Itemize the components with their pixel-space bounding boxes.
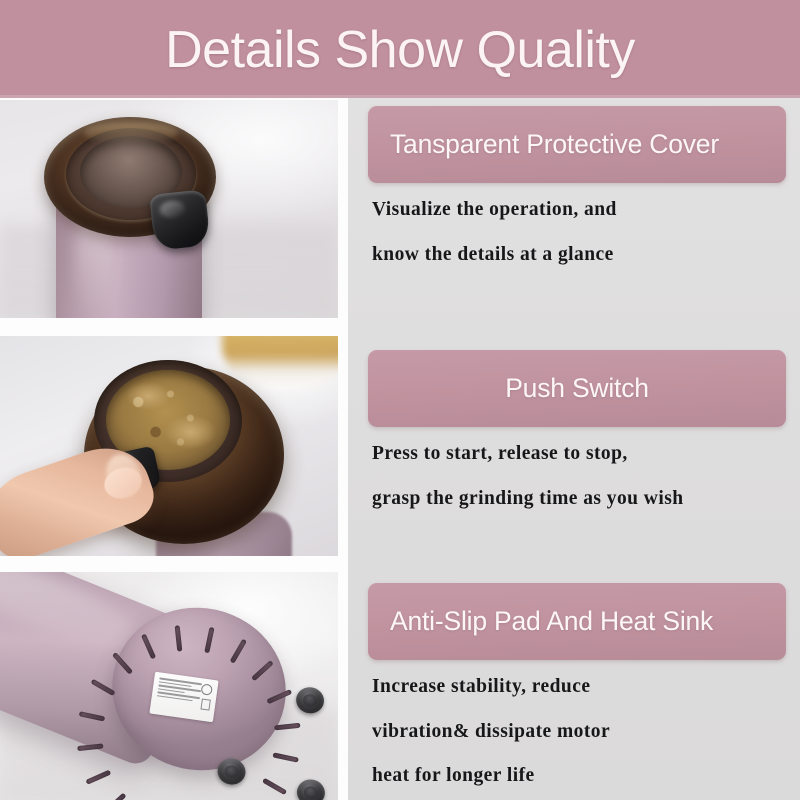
certification-icon <box>201 683 213 695</box>
feature-description: Press to start, release to stop, grasp t… <box>368 444 786 508</box>
feature-title: Anti-Slip Pad And Heat Sink <box>390 608 713 635</box>
vent-slot <box>230 639 247 664</box>
spec-label <box>149 672 218 722</box>
feature-label-bar: Anti-Slip Pad And Heat Sink <box>368 583 786 660</box>
vent-slot <box>112 652 133 675</box>
description-line: vibration& dissipate motor <box>372 722 786 742</box>
product-infographic: Details Show Quality <box>0 0 800 800</box>
photo-transparent-lid-top-view <box>0 100 338 318</box>
description-line: heat for longer life <box>372 766 786 786</box>
feature-description: Visualize the operation, and know the de… <box>368 200 786 264</box>
photo-1-content <box>0 100 338 318</box>
feature-block-anti-slip-pad: Anti-Slip Pad And Heat Sink Increase sta… <box>368 583 786 786</box>
lid-highlight <box>84 122 178 144</box>
page-title: Details Show Quality <box>165 24 635 76</box>
photo-2-content <box>0 336 338 556</box>
vent-slot <box>141 634 156 660</box>
barcode-icon <box>200 699 210 711</box>
vent-slot <box>251 660 274 681</box>
spec-label-text-lines <box>157 677 202 702</box>
description-line: Increase stability, reduce <box>372 677 786 697</box>
feature-label-bar: Tansparent Protective Cover <box>368 106 786 183</box>
feature-panel: Tansparent Protective Cover Visualize th… <box>348 98 800 800</box>
feature-title: Tansparent Protective Cover <box>390 131 719 158</box>
vent-slot <box>175 625 183 651</box>
feature-label-bar: Push Switch <box>368 350 786 427</box>
feature-title: Push Switch <box>505 375 649 402</box>
description-line: know the details at a glance <box>372 245 786 265</box>
feature-block-transparent-cover: Tansparent Protective Cover Visualize th… <box>368 106 786 264</box>
feature-description: Increase stability, reduce vibration& di… <box>368 677 786 786</box>
photo-finger-pressing-push-switch <box>0 336 338 556</box>
header-banner: Details Show Quality <box>0 0 800 98</box>
description-line: Press to start, release to stop, <box>372 444 786 464</box>
description-line: grasp the grinding time as you wish <box>372 489 786 509</box>
vent-slot <box>204 627 214 653</box>
feature-block-push-switch: Push Switch Press to start, release to s… <box>368 350 786 508</box>
description-line: Visualize the operation, and <box>372 200 786 220</box>
